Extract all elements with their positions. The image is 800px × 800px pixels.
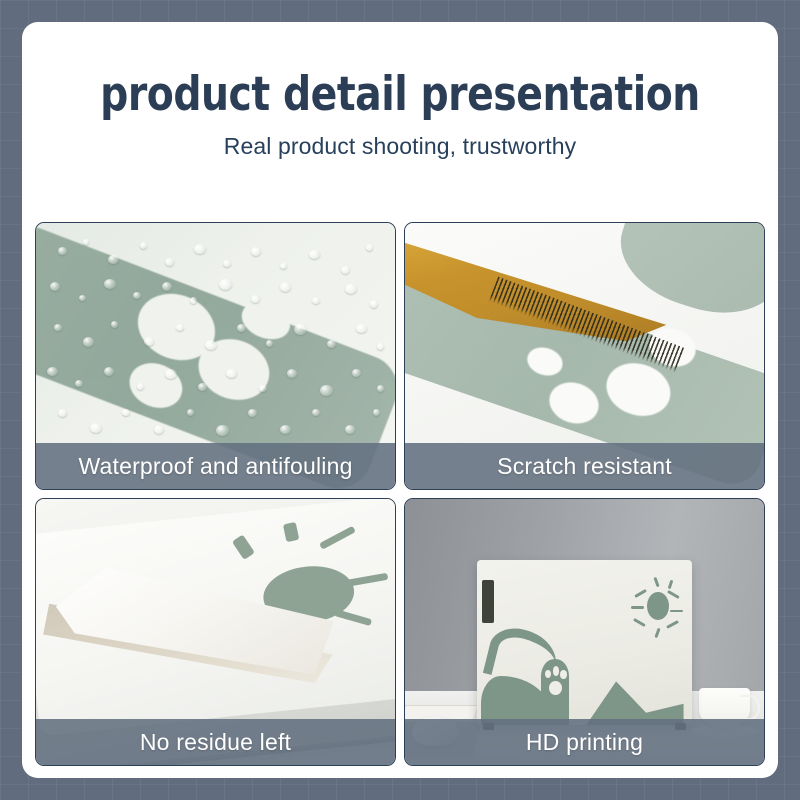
detail-panel-no-residue[interactable]: No residue left — [35, 498, 396, 766]
page-title: product detail presentation — [48, 22, 751, 120]
header: product detail presentation Real product… — [22, 22, 778, 160]
panel-caption: Scratch resistant — [405, 443, 764, 489]
page-subtitle: Real product shooting, trustworthy — [22, 120, 778, 160]
cat-body — [559, 669, 684, 725]
panel-caption: HD printing — [405, 719, 764, 765]
detail-panel-hd-printing[interactable]: HD printing — [404, 498, 765, 766]
cat-artwork — [477, 560, 692, 725]
panel-caption: No residue left — [36, 719, 395, 765]
detail-panel-waterproof[interactable]: Waterproof and antifouling — [35, 222, 396, 490]
content-card: product detail presentation Real product… — [22, 22, 778, 778]
sun-icon — [647, 592, 669, 620]
detail-panel-scratch-resistant[interactable]: Scratch resistant — [404, 222, 765, 490]
page-background: product detail presentation Real product… — [0, 0, 800, 800]
product-detail-grid: Waterproof and antifouling Scratch resis… — [35, 222, 765, 766]
cat-paw — [541, 659, 569, 725]
panel-caption: Waterproof and antifouling — [36, 443, 395, 489]
laptop-lid — [477, 560, 692, 725]
